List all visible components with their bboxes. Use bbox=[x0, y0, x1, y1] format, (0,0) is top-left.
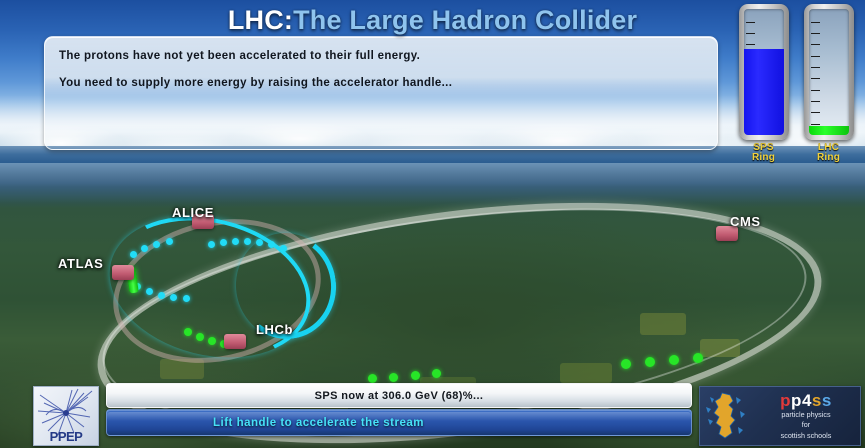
sps-beam-dot bbox=[158, 292, 165, 299]
accelerator-handle[interactable]: Lift handle to accelerate the stream bbox=[106, 409, 692, 436]
lhc-beam-dot bbox=[184, 328, 192, 336]
sps-beam-dot bbox=[268, 241, 275, 248]
lhc-beam-dot bbox=[196, 333, 204, 341]
detector-label-lhcb: LHCb bbox=[256, 322, 293, 337]
gauge-lhc-tube bbox=[809, 9, 849, 135]
pp4ss-sub-2: for bbox=[756, 421, 856, 429]
pp4ss-sub-3: scottish schools bbox=[756, 432, 856, 440]
horizon-haze bbox=[0, 163, 865, 203]
message-panel: The protons have not yet been accelerate… bbox=[44, 36, 718, 150]
pp4ss-logo: pp4ss particle physics for scottish scho… bbox=[699, 386, 861, 446]
pp4ss-brand: pp4ss bbox=[756, 392, 856, 409]
sps-beam-dot bbox=[183, 295, 190, 302]
ppep-logo: PPEP bbox=[33, 386, 99, 446]
sps-beam-dot bbox=[244, 238, 251, 245]
gauge-sps-label-line2: Ring bbox=[752, 153, 775, 163]
gauge-sps: SPS Ring bbox=[736, 4, 791, 166]
energy-gauges: SPS Ring LHC Ring bbox=[736, 4, 861, 166]
detector-label-cms: CMS bbox=[730, 214, 761, 229]
sps-beam-dot bbox=[166, 238, 173, 245]
gauge-lhc-ticks bbox=[811, 9, 823, 135]
gauge-sps-fill bbox=[744, 49, 784, 135]
gauge-sps-label: SPS Ring bbox=[752, 143, 775, 163]
gauge-lhc: LHC Ring bbox=[801, 4, 856, 166]
lhc-beam-dot bbox=[693, 353, 703, 363]
detector-marker-lhcb[interactable] bbox=[224, 334, 246, 349]
ppep-logo-text: PPEP bbox=[34, 429, 98, 444]
sps-beam-dot bbox=[220, 239, 227, 246]
sps-beam-dot bbox=[208, 241, 215, 248]
handle-hint-text: Lift handle to accelerate the stream bbox=[213, 417, 424, 429]
pp4ss-brand-s1: s bbox=[812, 391, 822, 410]
lhc-simulation-window: LHC:The Large Hadron Collider The proton… bbox=[0, 0, 865, 448]
lhc-beam-dot bbox=[621, 359, 631, 369]
scotland-map-icon bbox=[700, 389, 756, 443]
pp4ss-text-block: pp4ss particle physics for scottish scho… bbox=[756, 392, 860, 440]
sps-beam-dot bbox=[232, 238, 239, 245]
sps-beam-dot bbox=[280, 245, 287, 252]
sps-beam-dot bbox=[170, 294, 177, 301]
lhc-beam-dot bbox=[208, 337, 216, 345]
lhc-beam-dot bbox=[645, 357, 655, 367]
gauge-lhc-body bbox=[804, 4, 854, 140]
status-readout-bar: SPS now at 306.0 GeV (68)%... bbox=[106, 383, 692, 408]
pp4ss-sub-1: particle physics bbox=[756, 411, 856, 419]
message-line-1: The protons have not yet been accelerate… bbox=[59, 50, 717, 62]
sps-beam-dot bbox=[146, 288, 153, 295]
gauge-lhc-fill bbox=[809, 126, 849, 135]
lhc-beam-dot bbox=[669, 355, 679, 365]
status-readout-text: SPS now at 306.0 GeV (68)%... bbox=[315, 390, 484, 402]
pp4ss-brand-4: 4 bbox=[802, 391, 812, 410]
sps-beam-dot bbox=[153, 241, 160, 248]
detector-label-alice: ALICE bbox=[172, 205, 214, 220]
pp4ss-brand-s2: s bbox=[822, 391, 832, 410]
message-line-2: You need to supply more energy by raisin… bbox=[59, 77, 717, 89]
detector-label-atlas: ATLAS bbox=[58, 256, 103, 271]
sps-beam-dot bbox=[256, 239, 263, 246]
gauge-sps-body bbox=[739, 4, 789, 140]
sps-beam-dot bbox=[130, 251, 137, 258]
gauge-sps-tube bbox=[744, 9, 784, 135]
pp4ss-brand-p2: p bbox=[791, 391, 802, 410]
lhc-beam-dot bbox=[411, 371, 420, 380]
bottom-status-row: PPEP SPS now at 306.0 GeV (68)%... Lift … bbox=[0, 380, 865, 448]
detector-marker-atlas[interactable] bbox=[112, 265, 134, 280]
sps-beam-dot bbox=[141, 245, 148, 252]
lhc-beam-dot bbox=[432, 369, 441, 378]
gauge-lhc-label-line2: Ring bbox=[817, 153, 840, 163]
pp4ss-brand-p1: p bbox=[780, 391, 791, 410]
gauge-lhc-label: LHC Ring bbox=[817, 143, 840, 163]
